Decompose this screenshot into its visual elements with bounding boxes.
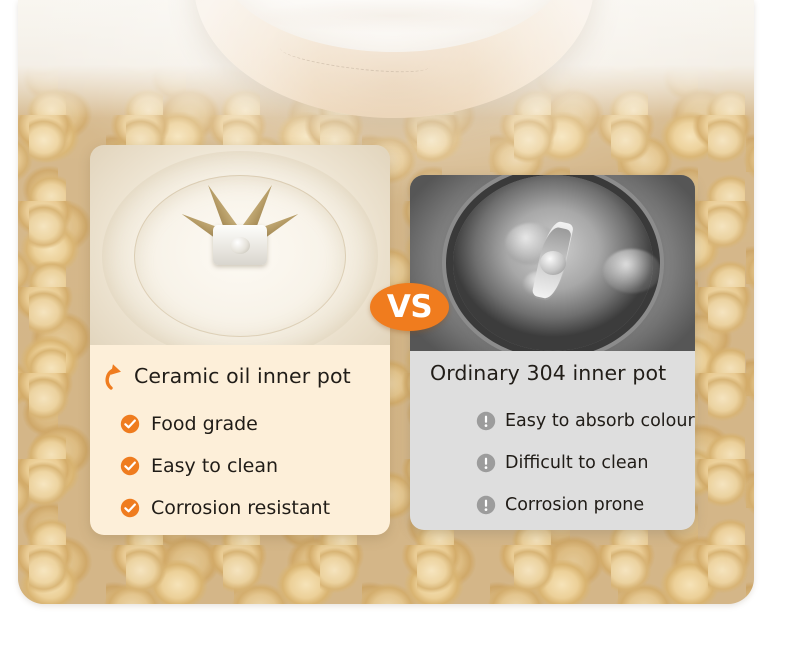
ceramic-pot-card[interactable]: Ceramic oil inner pot Food grade xyxy=(90,145,390,535)
stainless-blender-photo xyxy=(410,175,695,351)
screenshot-root: Ceramic oil inner pot Food grade xyxy=(0,0,790,665)
feature-label: Corrosion resistant xyxy=(151,497,330,519)
feature-item: Easy to clean xyxy=(120,455,390,477)
feature-item: Easy to absorb colour xyxy=(476,411,695,431)
feature-label: Easy to clean xyxy=(151,455,278,477)
feature-label: Easy to absorb colour xyxy=(505,411,695,431)
vs-label: VS xyxy=(387,292,432,323)
bowl-rim-shadow xyxy=(202,0,586,40)
curved-up-arrow-icon xyxy=(102,361,132,391)
stainless-pot-info-panel: Ordinary 304 inner pot Easy to absorb co… xyxy=(410,351,695,530)
ceramic-pot-title-row: Ceramic oil inner pot xyxy=(90,345,390,391)
steel-blade-hub xyxy=(540,251,566,275)
feature-item: Corrosion prone xyxy=(476,495,695,515)
check-circle-icon xyxy=(120,498,140,518)
stainless-pot-card[interactable]: Ordinary 304 inner pot Easy to absorb co… xyxy=(410,175,695,530)
stainless-pot-title: Ordinary 304 inner pot xyxy=(430,361,666,385)
feature-label: Food grade xyxy=(151,413,258,435)
product-photo-panel: Ceramic oil inner pot Food grade xyxy=(18,0,754,604)
feature-label: Difficult to clean xyxy=(505,453,648,473)
stainless-pot-title-row: Ordinary 304 inner pot xyxy=(410,351,695,385)
feature-label: Corrosion prone xyxy=(505,495,644,515)
check-circle-icon xyxy=(120,456,140,476)
warning-circle-icon xyxy=(476,495,496,515)
warning-circle-icon xyxy=(476,411,496,431)
ceramic-pot-photo xyxy=(90,145,390,345)
ceramic-pot-title: Ceramic oil inner pot xyxy=(134,364,351,388)
cutter-screw xyxy=(230,237,250,254)
feature-item: Corrosion resistant xyxy=(120,497,390,519)
residue-stain xyxy=(603,249,661,293)
feature-item: Food grade xyxy=(120,413,390,435)
ceramic-pot-feature-list: Food grade Easy to clean xyxy=(90,391,390,519)
warning-circle-icon xyxy=(476,453,496,473)
vs-badge-icon: VS xyxy=(370,283,449,331)
stainless-pot-feature-list: Easy to absorb colour Difficult to clean xyxy=(410,385,695,515)
feature-item: Difficult to clean xyxy=(476,453,695,473)
check-circle-icon xyxy=(120,414,140,434)
ceramic-pot-info-panel: Ceramic oil inner pot Food grade xyxy=(90,345,390,535)
